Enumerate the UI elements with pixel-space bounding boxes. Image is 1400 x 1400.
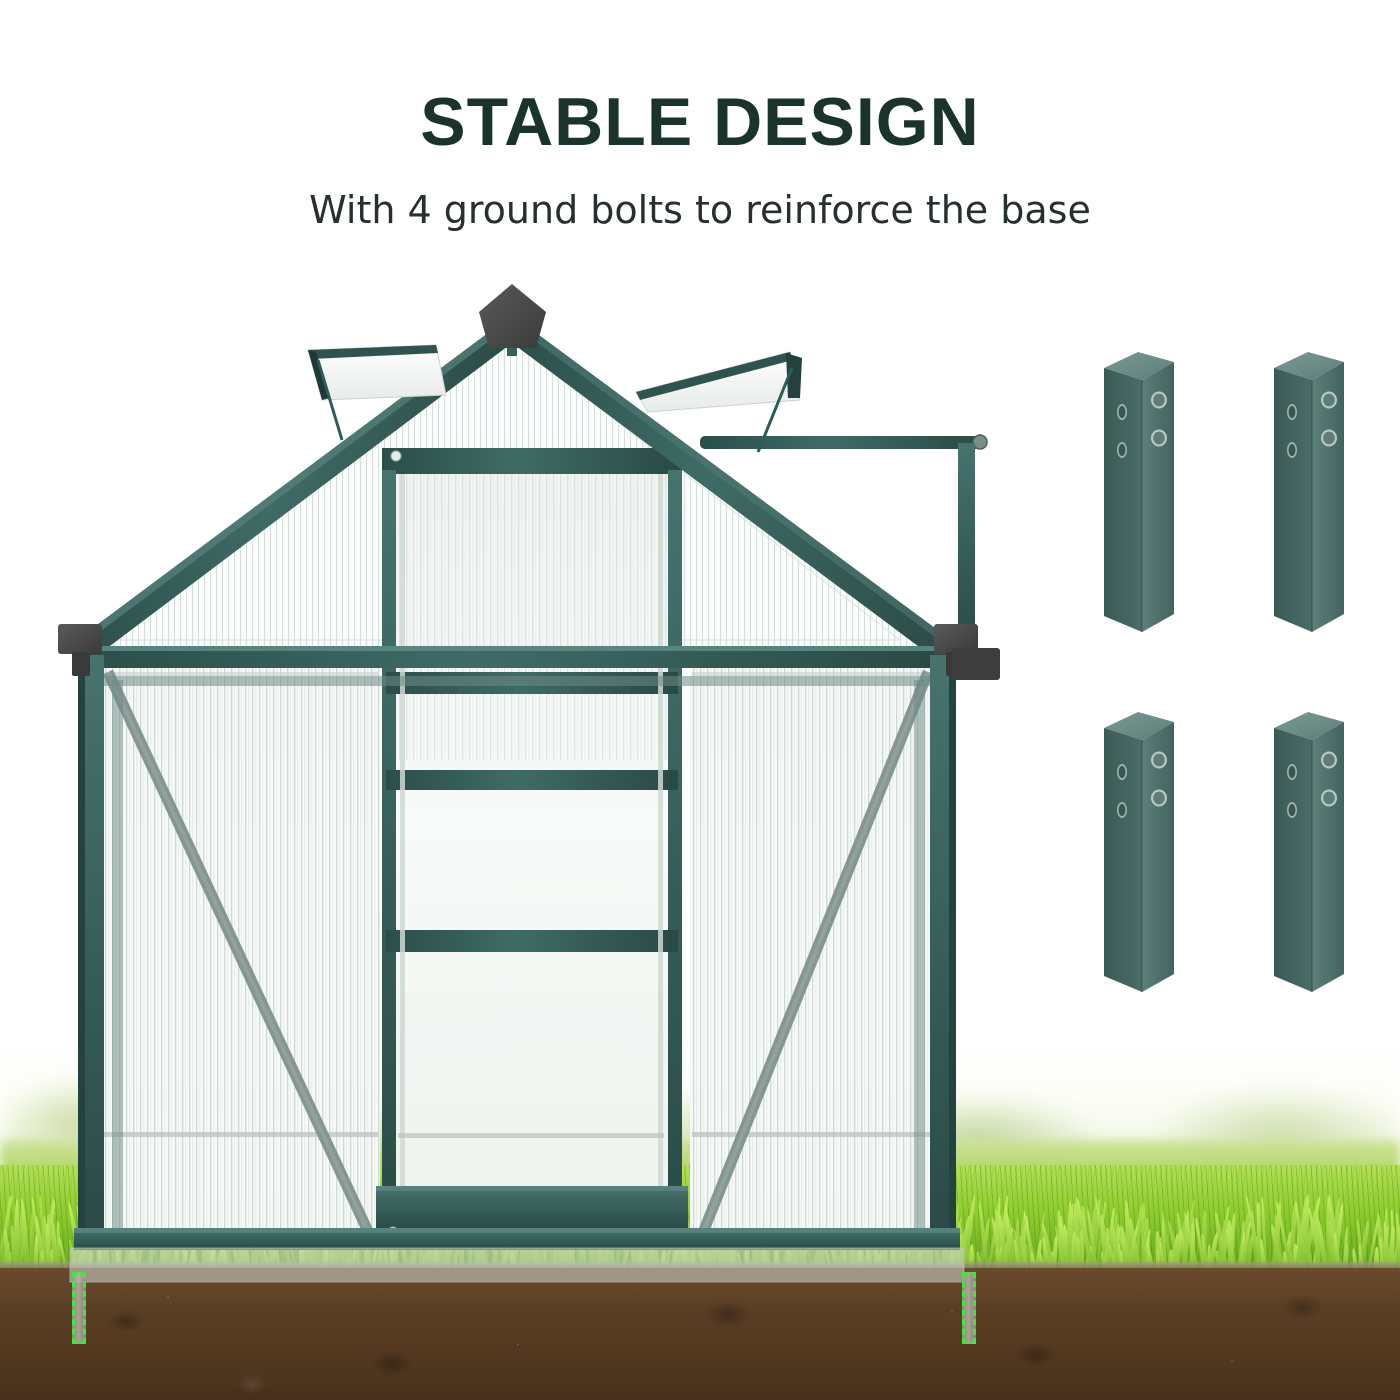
door-rail-lower	[386, 930, 678, 952]
ground-bolt-3	[1104, 712, 1174, 992]
buried-bolt-outline	[962, 1272, 976, 1344]
rear-post	[958, 443, 975, 653]
rear-ridge-rail	[700, 436, 986, 449]
product-marketing-image: STABLE DESIGN With 4 ground bolts to rei…	[0, 0, 1400, 1400]
ground-bolt-4	[1274, 712, 1344, 992]
door-rail-mid	[386, 770, 678, 790]
base-frame	[70, 1228, 964, 1282]
door-threshold	[376, 1186, 688, 1230]
ground-bolt-group	[1080, 350, 1380, 1030]
corner-bracket-left	[58, 624, 102, 654]
apex-cap	[479, 284, 546, 348]
greenhouse-door[interactable]	[376, 448, 688, 1248]
ground-bolt-2	[1274, 352, 1344, 632]
ground-bolts-svg	[1080, 350, 1380, 1030]
ground-bolt-1	[1104, 352, 1174, 632]
page-subtitle: With 4 ground bolts to reinforce the bas…	[0, 156, 1400, 232]
buried-bolt-left	[72, 1272, 86, 1344]
buried-bolt-right	[962, 1272, 976, 1344]
page-title: STABLE DESIGN	[0, 0, 1400, 156]
buried-bolt-outline	[72, 1272, 86, 1344]
eave-beams	[84, 646, 950, 686]
corner-bracket-rear	[952, 648, 1000, 680]
heading-block: STABLE DESIGN With 4 ground bolts to rei…	[0, 0, 1400, 232]
